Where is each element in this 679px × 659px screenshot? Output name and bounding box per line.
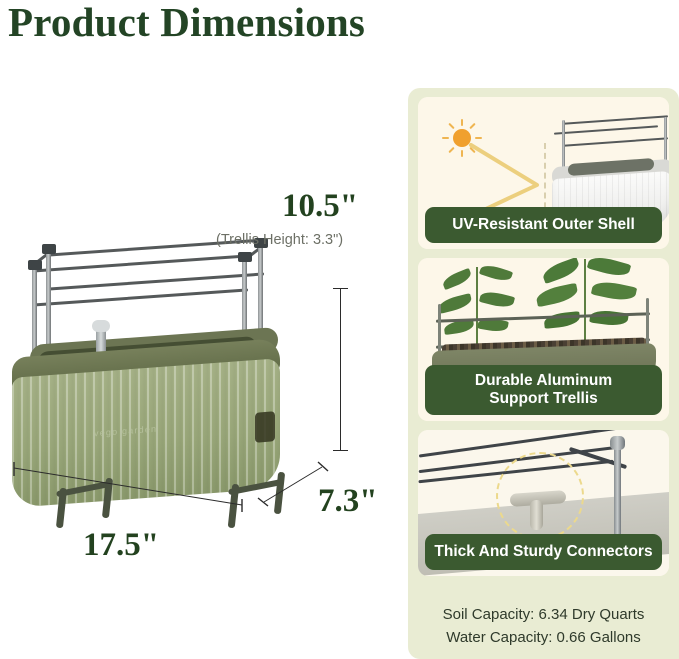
leaf — [543, 311, 580, 329]
sun-ray-n — [461, 119, 463, 126]
leaf — [587, 258, 632, 279]
trellis-mid-front-bar — [48, 272, 264, 290]
capacity-info: Soil Capacity: 6.34 Dry Quarts Water Cap… — [408, 603, 679, 650]
highlight-circle-icon — [496, 452, 584, 540]
feature-caption-trellis-line1: Durable Aluminum — [429, 372, 658, 390]
feature-caption-connectors: Thick And Sturdy Connectors — [425, 534, 662, 570]
water-level-knob — [92, 320, 110, 332]
wp-trellis-back-bar — [554, 125, 658, 134]
feature-card-uv-shell[interactable]: UV-Resistant Outer Shell — [418, 97, 669, 249]
height-dimension-cap-top — [333, 288, 348, 289]
trellis-corner-fitting-1 — [42, 244, 56, 254]
leaf — [479, 262, 513, 283]
connector-corner-cap — [610, 436, 625, 450]
sun-ray-sw — [448, 147, 454, 153]
connector-vertical-post — [614, 442, 621, 536]
height-dimension-cap-bottom — [333, 450, 348, 451]
product-diagram: vego garden 10.5" (Trellis Height: 3.3")… — [0, 60, 400, 659]
wp-trellis-top-bar — [564, 115, 668, 124]
leaf — [589, 308, 629, 327]
trellis-height-note: (Trellis Height: 3.3") — [216, 232, 343, 248]
leaf — [479, 289, 515, 310]
feature-card-connectors[interactable]: Thick And Sturdy Connectors — [418, 430, 669, 576]
plant-left-stem — [476, 267, 478, 355]
feature-card-trellis[interactable]: Durable Aluminum Support Trellis — [418, 258, 669, 421]
sun-ray-nw — [448, 123, 454, 129]
feature-panel: UV-Resistant Outer Shell — [408, 88, 679, 659]
trellis-corner-fitting-3 — [28, 260, 42, 270]
leaf — [437, 293, 473, 314]
trellis-mid-back-bar — [32, 288, 248, 306]
depth-dimension-label: 7.3" — [318, 483, 378, 520]
page-title: Product Dimensions — [8, 0, 365, 46]
leaf — [535, 283, 579, 307]
width-dimension-line — [10, 460, 250, 515]
feature-caption-trellis-line2: Support Trellis — [429, 390, 658, 408]
leaf — [591, 279, 637, 304]
height-dimension-line — [340, 288, 341, 450]
sun-ray-w — [442, 137, 449, 139]
leaf — [541, 258, 582, 284]
planter-side-vent — [255, 411, 275, 442]
height-dimension-label: 10.5" — [282, 188, 358, 225]
soil-capacity-text: Soil Capacity: 6.34 Dry Quarts — [408, 603, 679, 626]
leaf — [441, 268, 473, 290]
wp-trellis-mid-bar — [564, 137, 668, 146]
wp-trellis-post-left — [562, 120, 565, 172]
feature-caption-uv-shell: UV-Resistant Outer Shell — [425, 207, 662, 243]
width-dimension-svg — [10, 460, 250, 515]
connector-rail-top — [419, 430, 627, 458]
trellis-corner-fitting-4 — [238, 252, 252, 262]
trellis-top-back-bar — [32, 254, 248, 272]
sun-ray-ne — [469, 123, 475, 129]
feature-caption-trellis: Durable Aluminum Support Trellis — [425, 365, 662, 415]
width-dimension-label: 17.5" — [83, 527, 159, 564]
water-capacity-text: Water Capacity: 0.66 Gallons — [408, 626, 679, 649]
